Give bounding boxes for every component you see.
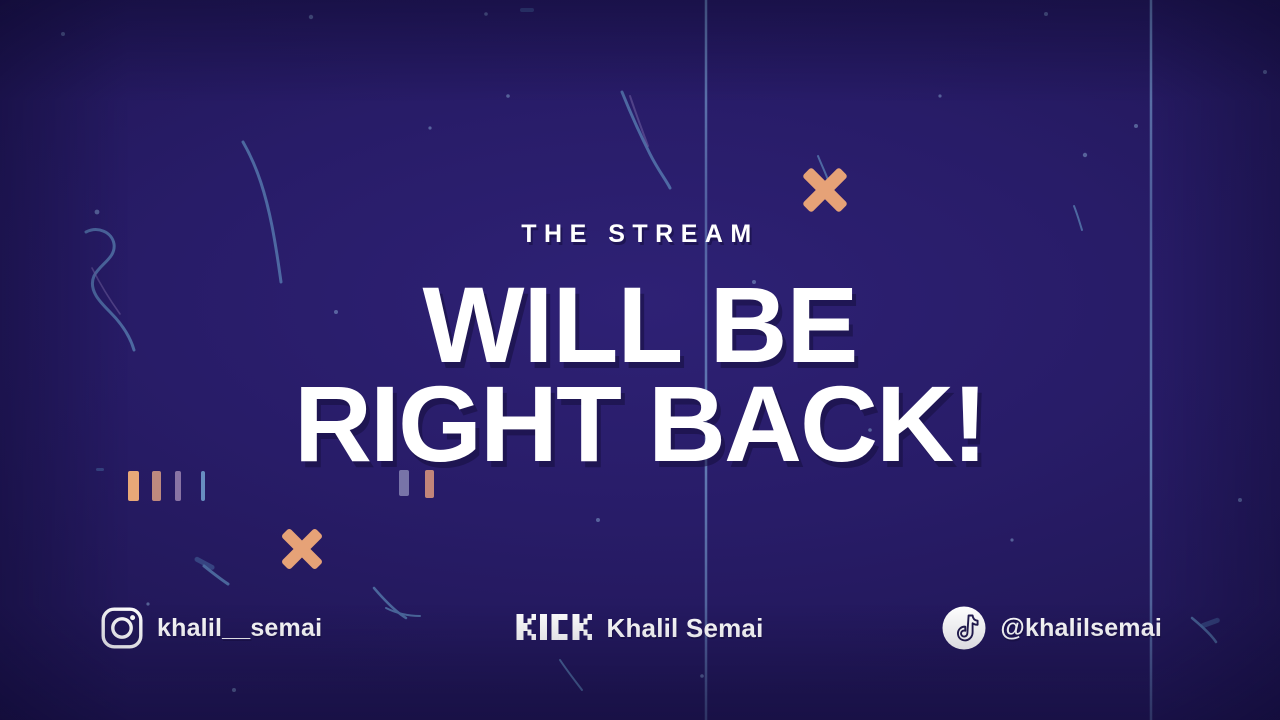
headline-line-1: WILL BE [294, 275, 986, 374]
social-instagram[interactable]: khalil__semai [100, 606, 322, 650]
tiktok-handle: @khalilsemai [1000, 614, 1162, 643]
social-footer: khalil__semai [0, 600, 1280, 656]
stream-offline-screen: THE STREAM WILL BE RIGHT BACK! khalil__s… [0, 0, 1280, 720]
headline: WILL BE RIGHT BACK! [294, 275, 986, 474]
instagram-handle: khalil__semai [157, 614, 322, 643]
social-tiktok[interactable]: @khalilsemai [941, 605, 1162, 651]
kick-logo [516, 616, 592, 640]
kick-handle: Khalil Semai [606, 613, 763, 644]
eyebrow-text: THE STREAM [521, 222, 759, 247]
instagram-icon [100, 606, 144, 650]
social-kick[interactable]: Khalil Semai [516, 613, 763, 644]
tiktok-icon [941, 605, 987, 651]
headline-line-2: RIGHT BACK! [294, 374, 986, 473]
